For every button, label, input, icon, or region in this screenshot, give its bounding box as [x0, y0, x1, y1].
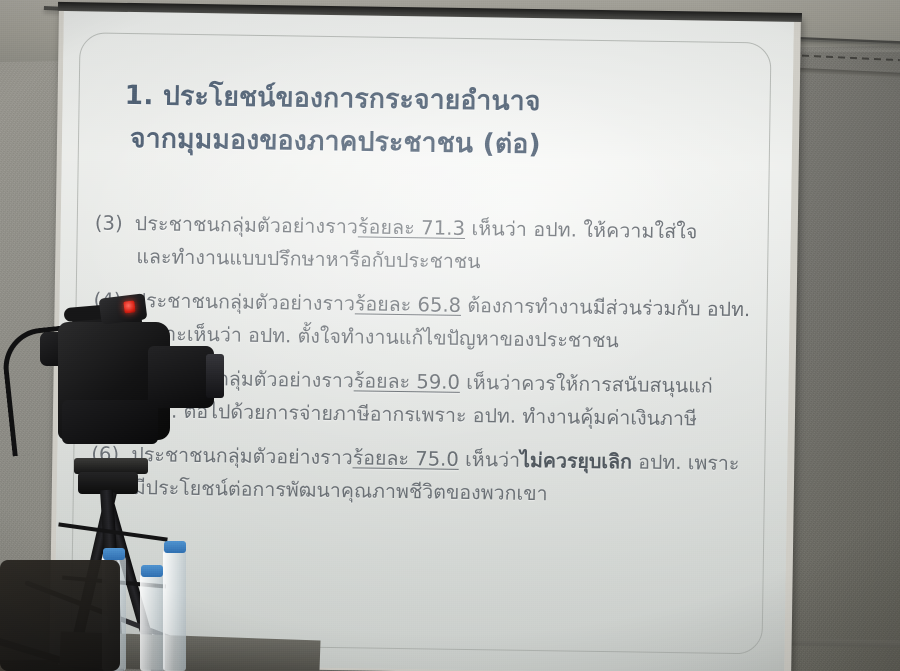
camera-top-module — [99, 293, 148, 324]
camera-lens-front — [206, 354, 224, 398]
foreground-dark-object — [0, 560, 120, 671]
camera-grip — [62, 400, 158, 444]
bottle-cap — [103, 548, 125, 560]
bottle-cap — [164, 541, 186, 553]
bottle-cap — [141, 565, 163, 577]
camera-lens-barrel — [148, 346, 214, 408]
record-led-icon — [123, 300, 135, 313]
water-bottle — [140, 572, 165, 671]
water-bottle — [163, 548, 186, 671]
photo-scene: 1. ประโยชน์ของการกระจายอำนาจ จากมุมมองขอ… — [0, 0, 900, 671]
